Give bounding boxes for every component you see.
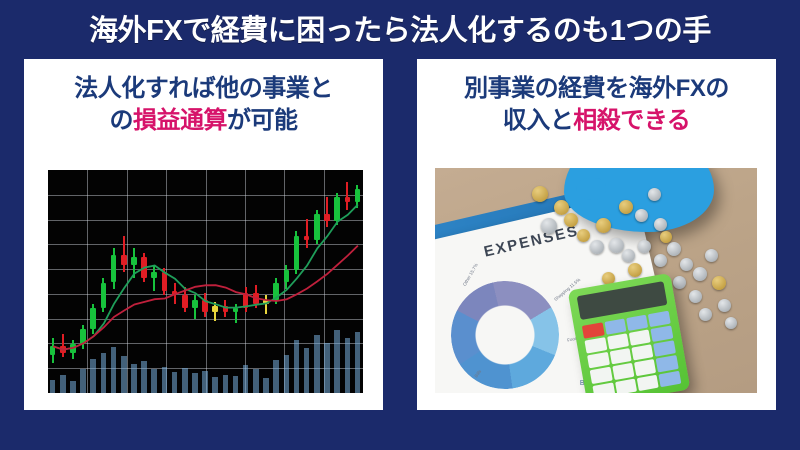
chart-ma-fast-line [53,205,358,350]
calculator-key [650,325,672,342]
calculator-key [587,352,609,369]
calculator-keypad [582,310,681,393]
expenses-photo-image: EXPENSES Other 15.7% Shopping 11.5% Food… [435,168,757,393]
coin [660,231,672,243]
calculator-key [590,367,612,384]
page-title: 海外FXで経費に困ったら法人化するのも1つの手 [89,7,711,49]
candlestick-chart [48,170,363,393]
chart-moving-averages [48,170,363,393]
coin [693,267,707,281]
coin [654,254,667,267]
panel-right-heading-highlight: 相殺できる [573,107,690,134]
coin [680,258,693,271]
coin [654,218,667,231]
panel-left-heading-highlight: 損益通算 [133,107,227,134]
calculator-key [634,359,656,376]
panel-right-heading-line1: 別事業の経費を海外FXの [464,75,729,102]
coin [667,242,681,256]
coin [648,188,661,201]
calculator-key [604,318,626,335]
calculator-key [631,344,653,361]
coin [596,218,611,233]
coin [541,218,557,234]
panel-left-heading-line1: 法人化すれば他の事業と [74,75,333,102]
coin [577,229,590,242]
coin [725,317,737,329]
calculator-key [584,337,606,354]
coin [712,276,726,290]
calculator-key [658,370,680,387]
coin [619,200,633,214]
panel-right-heading: 別事業の経費を海外FXの 収入と相殺できる [417,73,776,136]
calculator-key [636,374,658,391]
coin [532,186,548,202]
calculator-key [628,329,650,346]
calculator-key [592,382,614,393]
panel-right: 別事業の経費を海外FXの 収入と相殺できる EXPENSES Other 15.… [415,57,778,412]
coin [628,263,642,277]
calculator-key [626,314,648,331]
coin [590,240,604,254]
calculator-key [582,321,604,338]
coin [554,200,569,215]
calculator-key [609,348,631,365]
calculator-key [653,340,675,357]
coin [622,249,635,262]
expenses-photo: EXPENSES Other 15.7% Shopping 11.5% Food… [435,168,757,393]
coin [635,209,648,222]
slide-title-bar: 海外FXで経費に困ったら法人化するのも1つの手 [0,0,800,56]
slide-canvas: 海外FXで経費に困ったら法人化するのも1つの手 法人化すれば他の事業と の損益通… [0,0,800,450]
coin [699,308,712,321]
coin [705,249,718,262]
calculator-key [614,378,636,393]
coin [718,299,731,312]
panel-left-heading-line2-post: が可能 [227,107,298,134]
panel-left-heading: 法人化すれば他の事業と の損益通算が可能 [24,73,383,136]
panel-right-heading-line2-pre: 収入と [503,107,574,134]
calculator [567,272,690,393]
coin [564,213,578,227]
coin [689,290,702,303]
panel-left: 法人化すれば他の事業と の損益通算が可能 [22,57,385,412]
coin [638,240,651,253]
calculator-key [612,363,634,380]
calculator-key [606,333,628,350]
calculator-key [656,355,678,372]
calculator-key [648,310,670,327]
panel-left-heading-line2-pre: の [110,107,134,134]
candlestick-chart-image [48,170,363,393]
coin [673,276,686,289]
coin [609,238,624,253]
chart-ma-slow-line [53,246,358,350]
